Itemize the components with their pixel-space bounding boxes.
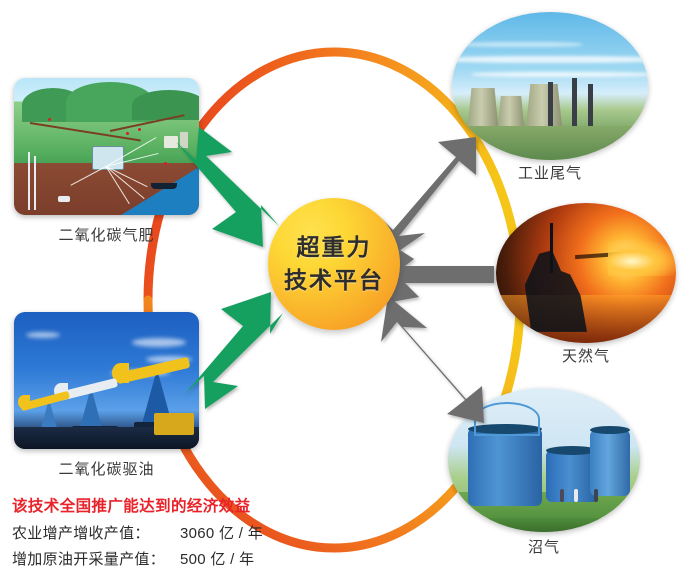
- footer-title: 该技术全国推广能达到的经济效益: [12, 494, 263, 516]
- hub-line-1: 超重力: [297, 231, 372, 264]
- footer-key-agriculture: 农业增产增收产值：: [12, 522, 180, 543]
- footer-key-crude-oil: 增加原油开采量产值：: [12, 548, 180, 569]
- footer-value-agriculture: 3060 亿 / 年: [180, 522, 263, 543]
- center-hub-superg-platform[interactable]: 超重力 技术平台: [268, 198, 400, 330]
- footer-row-agriculture: 农业增产增收产值： 3060 亿 / 年: [12, 522, 263, 543]
- arrow-to-co2-gas-fertilizer: [176, 127, 279, 247]
- hub-line-2: 技术平台: [284, 264, 384, 297]
- footer-value-crude-oil: 500 亿 / 年: [180, 548, 254, 569]
- footer-row-crude-oil: 增加原油开采量产值： 500 亿 / 年: [12, 548, 263, 569]
- arrow-to-co2-eor: [184, 292, 283, 409]
- diagram-canvas: 超重力 技术平台: [0, 0, 700, 580]
- economic-benefit-summary: 该技术全国推广能达到的经济效益 农业增产增收产值： 3060 亿 / 年 增加原…: [12, 494, 263, 569]
- arrow-from-biogas: [381, 296, 484, 423]
